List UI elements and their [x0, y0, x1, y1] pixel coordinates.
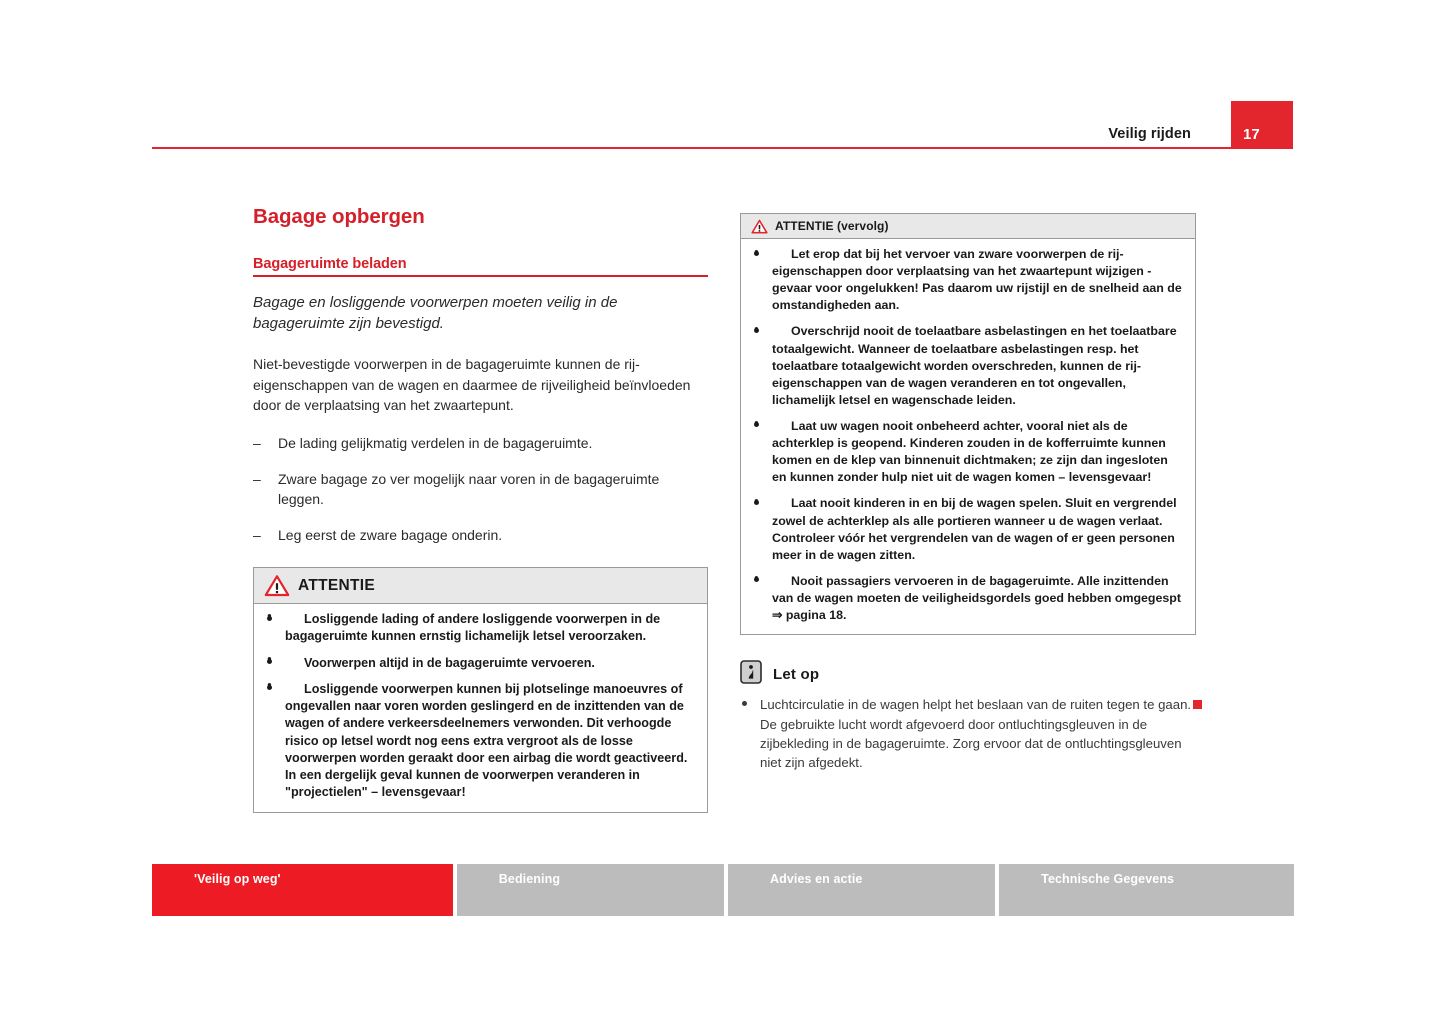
attentie-bullet-list: Losliggende lading of andere losliggende… — [265, 611, 696, 802]
tab-label: 'Veilig op weg' — [194, 872, 281, 886]
header-rule — [152, 147, 1293, 149]
attentie-vervolg-body: Let erop dat bij het vervoer van zware v… — [741, 239, 1195, 634]
page-number: 17 — [1243, 126, 1260, 143]
list-item: Nooit passagiers vervoeren in de bagager… — [752, 573, 1184, 624]
tab-label: Technische Gegevens — [1041, 872, 1174, 886]
list-item: Laat uw wagen nooit onbeheerd achter, vo… — [752, 418, 1184, 486]
body-paragraph: Niet-bevestigde voorwerpen in de bagager… — [253, 354, 708, 415]
list-item: Laat nooit kinderen in en bij de wagen s… — [752, 495, 1184, 563]
bullet-dot-icon — [754, 328, 759, 333]
bullet-dot-icon — [754, 577, 759, 582]
attentie-box-header: ATTENTIE — [254, 568, 707, 604]
attentie-vervolg-header: ATTENTIE (vervolg) — [741, 214, 1195, 239]
list-item: Leg eerst de zware bagage onderin. — [253, 525, 708, 545]
tab-bediening[interactable]: Bediening — [457, 864, 724, 916]
tab-advies-en-actie[interactable]: Advies en actie — [728, 864, 995, 916]
attentie-box: ATTENTIE Losliggende lading of andere lo… — [253, 567, 708, 813]
bullet-dot-icon — [754, 422, 759, 427]
attentie-vervolg-bullet-list: Let erop dat bij het vervoer van zware v… — [752, 246, 1184, 624]
bullet-dot-icon — [267, 685, 272, 690]
warning-triangle-icon — [751, 219, 768, 234]
attentie-vervolg-box: ATTENTIE (vervolg) Let erop dat bij het … — [740, 213, 1196, 635]
tab-veilig-op-weg[interactable]: 'Veilig op weg' — [152, 864, 453, 916]
left-column: Bagage opbergen Bagageruimte beladen Bag… — [253, 205, 708, 813]
letop-note: Let op Luchtcirculatie in de wagen helpt… — [740, 660, 1196, 773]
list-item: Losliggende lading of andere losliggende… — [265, 611, 696, 646]
red-square-marker — [1193, 700, 1202, 709]
info-icon — [740, 660, 762, 689]
page-header: Veilig rijden 17 — [152, 101, 1293, 148]
bullet-text: Overschrijd nooit de toelaatbare asbelas… — [772, 324, 1177, 406]
attentie-box-body: Losliggende lading of andere losliggende… — [254, 604, 707, 812]
manual-page: Veilig rijden 17 Bagage opbergen Bagager… — [0, 0, 1445, 1018]
bullet-dot-icon — [754, 251, 759, 256]
letop-body: Luchtcirculatie in de wagen helpt het be… — [740, 695, 1196, 773]
list-item: Overschrijd nooit de toelaatbare asbelas… — [752, 323, 1184, 409]
tab-technische-gegevens[interactable]: Technische Gegevens — [999, 864, 1294, 916]
list-item: De lading gelijkmatig verdelen in de bag… — [253, 433, 708, 453]
header-section-title: Veilig rijden — [1108, 126, 1191, 142]
dash-list: De lading gelijkmatig verdelen in de bag… — [253, 433, 708, 545]
attentie-vervolg-title: ATTENTIE (vervolg) — [775, 219, 889, 233]
bullet-text: Voorwerpen altijd in de bagageruimte ver… — [304, 656, 595, 670]
letop-text: Luchtcirculatie in de wagen helpt het be… — [760, 697, 1191, 770]
list-item: Zware bagage zo ver mogelijk naar voren … — [253, 469, 708, 510]
list-item: Losliggende voorwerpen kunnen bij plotse… — [265, 681, 696, 802]
tab-label: Advies en actie — [770, 872, 863, 886]
bullet-text: Nooit passagiers vervoeren in de bagager… — [772, 574, 1181, 622]
footer-tab-bar: 'Veilig op weg' Bediening Advies en acti… — [152, 864, 1294, 916]
bullet-dot-icon — [267, 616, 272, 621]
page-title: Bagage opbergen — [253, 205, 708, 229]
lead-paragraph: Bagage en losliggende voorwerpen moeten … — [253, 292, 708, 335]
bullet-text: Laat nooit kinderen in en bij de wagen s… — [772, 496, 1177, 561]
bullet-text: Losliggende voorwerpen kunnen bij plotse… — [285, 682, 687, 800]
letop-header: Let op — [740, 660, 1196, 689]
letop-title: Let op — [773, 666, 819, 683]
list-item: Let erop dat bij het vervoer van zware v… — [752, 246, 1184, 314]
section-subheading: Bagageruimte beladen — [253, 256, 708, 272]
bullet-text: Let erop dat bij het vervoer van zware v… — [772, 247, 1182, 312]
list-item: Voorwerpen altijd in de bagageruimte ver… — [265, 655, 696, 672]
right-column: ATTENTIE (vervolg) Let erop dat bij het … — [740, 213, 1196, 773]
tab-label: Bediening — [499, 872, 560, 886]
bullet-dot-icon — [754, 500, 759, 505]
bullet-dot-icon — [742, 701, 747, 706]
bullet-dot-icon — [267, 659, 272, 664]
attentie-box-title: ATTENTIE — [298, 577, 375, 595]
bullet-text: Losliggende lading of andere losliggende… — [285, 612, 660, 643]
subheading-rule — [253, 275, 708, 277]
page-number-box: 17 — [1231, 101, 1293, 148]
warning-triangle-icon — [264, 574, 290, 597]
bullet-text: Laat uw wagen nooit onbeheerd achter, vo… — [772, 419, 1168, 484]
